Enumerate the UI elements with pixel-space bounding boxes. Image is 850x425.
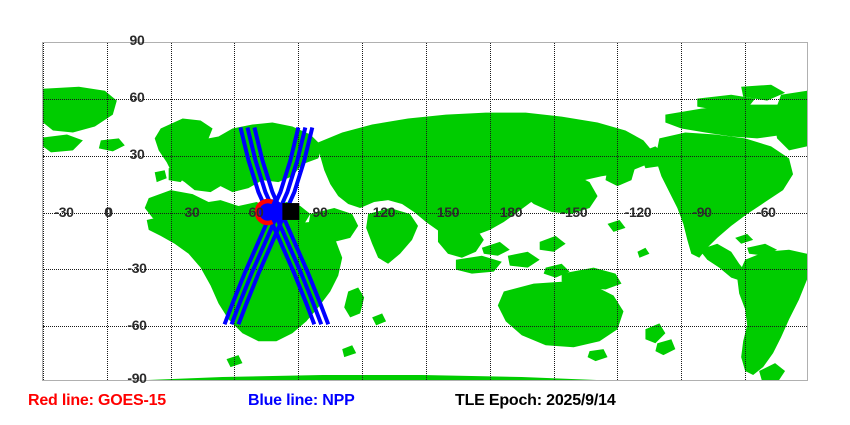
gridline-lon-30	[171, 43, 172, 380]
lon-tick--30: -30	[54, 204, 73, 220]
lat-tick-60: 60	[130, 89, 145, 105]
gridline-lat-60	[43, 99, 807, 100]
lon-tick--120: -120	[625, 204, 652, 220]
lon-tick--150: -150	[561, 204, 588, 220]
lon-tick-120: 120	[373, 204, 395, 220]
gridline-lon--120	[617, 43, 618, 380]
gridline-lon-60	[234, 43, 235, 380]
tle-epoch-value: 2025/9/14	[546, 392, 615, 409]
gridline-lat-30	[43, 156, 807, 157]
legend-blue-label: Blue line:	[248, 392, 318, 409]
lat-tick--60: -60	[127, 317, 146, 333]
legend-entry-goes15: Red line: GOES-15	[28, 392, 166, 410]
gridline-lon-180	[490, 43, 491, 380]
gridline-lon-90	[298, 43, 299, 380]
gridline-lon-150	[426, 43, 427, 380]
gridline-lat--60	[43, 326, 807, 327]
lon-tick-60: 60	[249, 204, 264, 220]
legend-red-label: Red line:	[28, 392, 94, 409]
legend-bar: Red line: GOES-15 Blue line: NPP TLE Epo…	[0, 392, 850, 418]
lon-tick-30: 30	[185, 204, 200, 220]
gridline-lon--90	[681, 43, 682, 380]
lon-tick-150: 150	[437, 204, 459, 220]
gridline-lon--30	[43, 43, 44, 380]
legend-red-value: GOES-15	[98, 392, 166, 409]
lat-tick-30: 30	[130, 146, 145, 162]
gridline-lon--150	[554, 43, 555, 380]
gridline-lon--60	[745, 43, 746, 380]
lat-tick-0: 0	[105, 204, 113, 220]
lon-tick--90: -90	[692, 204, 711, 220]
gridline-lon-120	[362, 43, 363, 380]
legend-blue-value: NPP	[322, 392, 354, 409]
lon-tick--60: -60	[756, 204, 775, 220]
lat-tick--90: -90	[127, 370, 146, 386]
gridline-lat--30	[43, 269, 807, 270]
lon-tick-90: 90	[313, 204, 328, 220]
lon-tick-180: 180	[500, 204, 522, 220]
lat-tick--30: -30	[127, 260, 146, 276]
legend-entry-tle-epoch: TLE Epoch: 2025/9/14	[455, 392, 616, 410]
tle-epoch-label: TLE Epoch:	[455, 392, 542, 409]
legend-entry-npp: Blue line: NPP	[248, 392, 355, 410]
lat-tick-90: 90	[130, 32, 145, 48]
